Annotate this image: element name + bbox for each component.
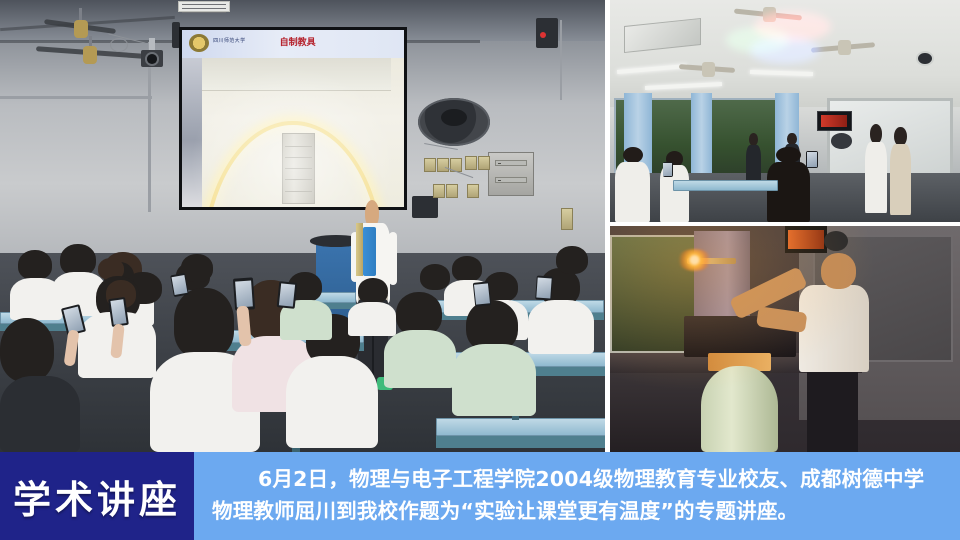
warm-light-overlay	[610, 226, 960, 452]
blue-light-blob	[750, 36, 820, 65]
slide-title: 自制教具	[280, 35, 316, 48]
wall-switch	[478, 156, 490, 170]
wall-fan-icon	[418, 98, 490, 146]
audience-torso	[286, 356, 378, 448]
photo-collage: 四川师范大学 自制教具 ⎓ ⎓	[0, 0, 960, 452]
banner-caption: 6月2日，物理与电子工程学院2004级物理教育专业校友、成都树德中学物理教师屈川…	[212, 463, 942, 527]
demo-device	[363, 227, 377, 276]
projected-slide	[182, 58, 404, 207]
smartphone	[806, 151, 818, 168]
wall-switch	[561, 208, 573, 230]
wall-fan-icon	[831, 133, 852, 149]
university-logo-icon	[189, 34, 209, 52]
audience-head	[420, 264, 450, 290]
student-desk	[673, 180, 778, 191]
audience-torso	[528, 300, 594, 354]
projection-screen: 四川师范大学 自制教具	[179, 27, 407, 210]
smartphone	[535, 275, 553, 300]
ceiling-fan-icon	[813, 36, 879, 56]
wall-conduit	[560, 20, 562, 100]
banner-badge: 学术讲座	[0, 452, 194, 540]
audience-head	[358, 278, 388, 304]
banner-text-area: 6月2日，物理与电子工程学院2004级物理教育专业校友、成都树德中学物理教师屈川…	[194, 452, 960, 540]
indicator-light	[540, 32, 546, 38]
audience-head	[452, 256, 482, 282]
poster-root: 四川师范大学 自制教具 ⎓ ⎓	[0, 0, 960, 540]
slide-logo-text: 四川师范大学	[213, 37, 245, 44]
smartphone	[663, 162, 673, 177]
wall-conduit	[0, 96, 152, 99]
wall-switch	[433, 184, 445, 198]
wall-conduit	[148, 92, 151, 212]
audience-person	[610, 147, 656, 222]
wall-ring	[110, 38, 128, 52]
display-screen	[817, 111, 852, 131]
smartphone	[473, 281, 491, 307]
audience-torso	[348, 302, 396, 336]
ceiling-fan-icon	[46, 8, 116, 36]
audience-torso	[452, 344, 536, 416]
ceiling-fan-icon	[680, 58, 740, 76]
person-standing	[887, 127, 915, 216]
audience-head	[556, 246, 588, 274]
photo-lecture-hall: 四川师范大学 自制教具 ⎓ ⎓	[0, 0, 605, 452]
photo-heat-experiment	[610, 226, 960, 452]
ceiling-fan-icon	[36, 36, 146, 66]
wall-switch	[437, 158, 449, 172]
photo-rgb-light-demo	[610, 0, 960, 222]
wall-switch	[424, 158, 436, 172]
wall-switch	[467, 184, 479, 198]
audience-torso	[0, 376, 80, 452]
slide-header: 四川师范大学 自制教具	[182, 30, 404, 58]
audience-head	[174, 288, 234, 358]
wall-switch	[446, 184, 458, 198]
audience-head	[18, 250, 52, 280]
wall-switch	[465, 156, 477, 170]
audience-head	[0, 318, 54, 382]
speaker-box	[412, 196, 438, 218]
electrical-panel: ⎓ ⎓	[488, 152, 534, 196]
banner-badge-label: 学术讲座	[13, 469, 181, 524]
smartphone	[277, 281, 298, 309]
audience-torso	[384, 330, 456, 388]
caption-banner: 学术讲座 6月2日，物理与电子工程学院2004级物理教育专业校友、成都树德中学物…	[0, 452, 960, 540]
camera-icon	[141, 50, 163, 76]
ceiling-plaque	[178, 1, 230, 12]
student-desk	[436, 418, 605, 436]
